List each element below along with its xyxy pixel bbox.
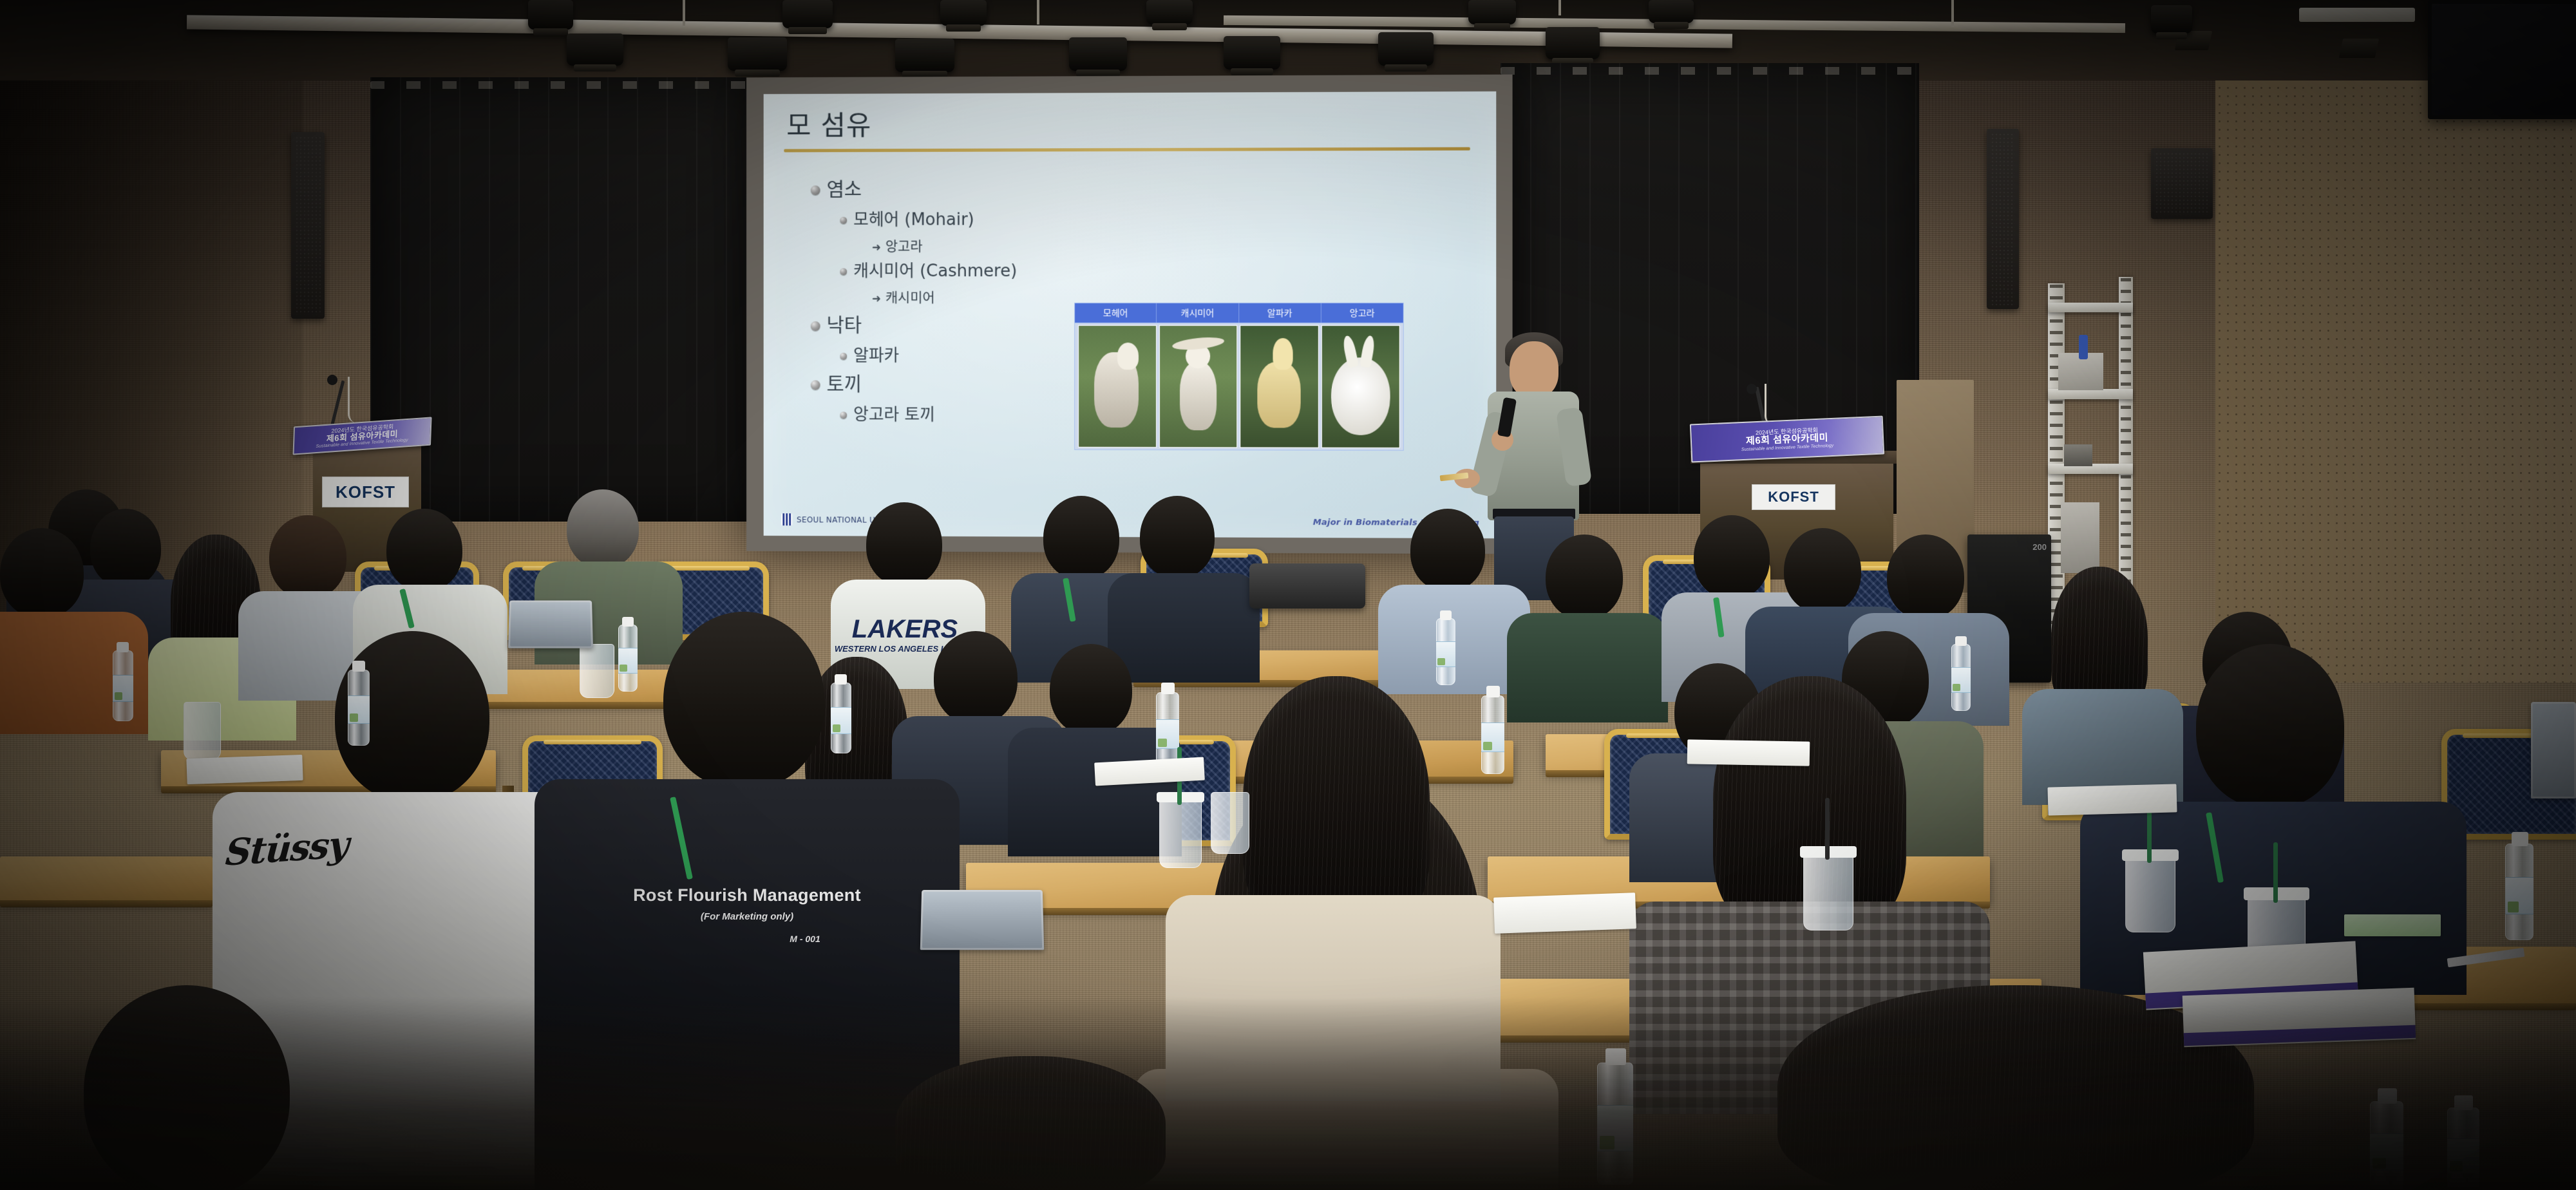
slide-bullet-level1: 낙타 <box>811 309 862 337</box>
animal-comparison-table: 모헤어 캐시미어 알파카 앙고라 <box>1074 303 1404 451</box>
water-bottle[interactable] <box>348 670 370 746</box>
slide-title: 모 섬유 <box>786 104 871 143</box>
bottle-label <box>1951 667 1971 693</box>
iced-coffee-cup[interactable] <box>2125 856 2175 932</box>
stage-light <box>1649 0 1694 23</box>
cup-body <box>2125 856 2175 932</box>
blackout-curtain-left <box>370 77 763 522</box>
truss-hanger <box>1037 0 1039 24</box>
angora-goat-photo <box>1078 325 1156 448</box>
water-bottle[interactable] <box>2505 844 2533 940</box>
bottle-cap <box>1486 686 1500 697</box>
person-head <box>1050 644 1132 735</box>
bullet-dot-icon <box>840 411 847 419</box>
kofst-sign: KOFST <box>322 477 409 507</box>
projection-screen: 모 섬유 염소 모헤어 (Mohair) ➜앙고라 캐시미어 (Cashmere… <box>746 75 1513 554</box>
bottle-cap <box>352 661 365 672</box>
bottle-cap <box>622 617 634 627</box>
person-head <box>269 515 346 599</box>
bullet-dot-icon <box>811 185 820 195</box>
slide-bullet-level1: 토끼 <box>811 368 862 397</box>
person-shoulders <box>1108 573 1260 683</box>
laptop[interactable] <box>508 600 593 648</box>
handout-paper[interactable] <box>1687 739 1810 766</box>
bottle-cap <box>2512 832 2528 846</box>
bottle-label <box>113 675 133 702</box>
angora-rabbit-photo <box>1321 325 1399 448</box>
wall-monitor <box>2428 0 2576 119</box>
storage-rack-item <box>2064 444 2092 466</box>
bottle-label <box>2505 877 2533 914</box>
stage-light <box>1378 32 1434 66</box>
bottle-label <box>348 695 370 724</box>
water-bottle[interactable] <box>1951 644 1971 711</box>
person-head <box>1546 534 1623 619</box>
cup-body <box>184 702 221 760</box>
cashmere-goat-photo <box>1159 325 1238 448</box>
floor-shadow <box>0 997 2576 1190</box>
bottle-label <box>1436 641 1455 667</box>
stage-light <box>1224 36 1280 70</box>
presenter-head <box>1510 341 1558 398</box>
pa-speaker-label: 200 <box>2032 542 2047 552</box>
truss-hanger <box>683 0 685 26</box>
handout-paper[interactable] <box>2047 784 2177 815</box>
water-bottle[interactable] <box>831 683 851 753</box>
animal-silhouette <box>1258 363 1301 428</box>
stage-light <box>940 0 987 26</box>
person-head <box>934 631 1018 724</box>
laptop[interactable] <box>920 890 1044 950</box>
bottle-cap <box>1955 636 1967 646</box>
animal-silhouette <box>1180 362 1217 430</box>
stage-light <box>1468 0 1516 24</box>
audience-table <box>0 856 213 902</box>
cup-body <box>1803 853 1853 930</box>
tshirt-line1: Rost Flourish Management <box>535 885 960 905</box>
stage-light <box>782 0 833 28</box>
bottle-label <box>1156 719 1179 749</box>
laptop-screen <box>922 892 1042 948</box>
person-head <box>1410 509 1485 591</box>
bottle-cap <box>1440 610 1452 620</box>
tshirt-line2: (For Marketing only) <box>535 911 960 922</box>
person-head <box>866 502 942 586</box>
bullet-dot-icon <box>811 380 820 390</box>
slide-bullet-level2: 모헤어 (Mohair) <box>840 206 974 230</box>
person-head <box>1784 528 1861 613</box>
banner-cable <box>1765 384 1784 425</box>
animal-silhouette <box>1331 357 1390 435</box>
stage-light <box>728 37 787 71</box>
table-header-cell: 앙고라 <box>1321 303 1403 323</box>
curtain-folds <box>370 77 763 522</box>
arrow-bullet-icon: ➜ <box>872 241 881 254</box>
straw <box>2273 842 2278 903</box>
bottle-label <box>831 707 851 734</box>
table-header-cell: 알파카 <box>1239 303 1321 323</box>
wall-speaker-left <box>291 132 325 319</box>
bottle-label <box>1481 722 1504 752</box>
slide-accent-rule <box>784 147 1470 153</box>
person-head <box>1140 496 1215 578</box>
storage-rack-shelf <box>2048 303 2133 312</box>
iced-coffee-cup[interactable] <box>1803 853 1853 930</box>
presentation-slide: 모 섬유 염소 모헤어 (Mohair) ➜앙고라 캐시미어 (Cashmere… <box>764 91 1497 538</box>
stage-light <box>1546 27 1600 59</box>
truss-hanger <box>1951 0 1954 27</box>
slide-bullet-level3: ➜캐시미어 <box>872 287 935 307</box>
storage-rack-shelf <box>2048 389 2133 399</box>
laptop[interactable] <box>2531 702 2576 798</box>
person-head <box>0 528 84 618</box>
stage-light-barn-door <box>2339 39 2379 58</box>
wall-speaker-corner <box>2151 148 2213 219</box>
cup-body <box>1159 798 1202 868</box>
person-head <box>90 509 161 587</box>
cup-body <box>1211 792 1249 854</box>
cup-body <box>580 644 614 698</box>
person-head <box>567 489 639 568</box>
straw <box>1825 798 1830 860</box>
storage-rack-bottle <box>2079 335 2088 359</box>
microphone-icon <box>1747 384 1757 394</box>
slide-bullet-level2: 캐시미어 (Cashmere) <box>840 258 1017 281</box>
storage-rack-item <box>2061 502 2099 573</box>
table-image-row <box>1074 323 1404 451</box>
person-head <box>2196 644 2344 808</box>
handout-paper[interactable] <box>1493 892 1636 934</box>
arrow-bullet-icon: ➜ <box>872 292 881 305</box>
slide-bullet-level1: 염소 <box>811 173 862 202</box>
bottle-cap <box>1161 683 1175 694</box>
bullet-dot-icon <box>811 321 820 331</box>
stage-light <box>1069 37 1127 71</box>
stussy-logo: Stüssy <box>224 823 350 874</box>
person-shoulders <box>1507 613 1668 722</box>
laptop-screen <box>510 602 591 646</box>
truss-hanger <box>1558 0 1561 15</box>
water-bottle[interactable] <box>1436 618 1455 685</box>
animal-head <box>1117 343 1139 369</box>
paper-cup[interactable] <box>580 644 614 698</box>
paper-cup[interactable] <box>184 702 221 760</box>
laptop-screen <box>2533 704 2574 797</box>
slide-bullet-level3: ➜앙고라 <box>872 236 923 255</box>
person-head <box>1694 515 1770 599</box>
table-edge <box>0 900 213 907</box>
person-head <box>1043 496 1119 580</box>
water-bottle[interactable] <box>1481 695 1504 774</box>
table-header-cell: 모헤어 <box>1075 303 1157 323</box>
alpaca-photo <box>1240 325 1318 448</box>
paper-cup[interactable] <box>1211 792 1249 854</box>
backpack <box>1249 563 1365 609</box>
lecture-hall-scene: 모 섬유 염소 모헤어 (Mohair) ➜앙고라 캐시미어 (Cashmere… <box>0 0 2576 1190</box>
university-crest-icon <box>781 513 792 525</box>
bottle-label <box>618 648 638 674</box>
stage-light <box>2151 5 2192 33</box>
bullet-dot-icon <box>840 217 847 224</box>
water-bottle[interactable] <box>113 650 133 721</box>
water-bottle[interactable] <box>618 625 638 692</box>
stage-light <box>1146 0 1193 24</box>
banner-cable <box>348 377 365 423</box>
name-card[interactable] <box>2344 914 2441 936</box>
table-header-row: 모헤어 캐시미어 알파카 앙고라 <box>1074 303 1404 323</box>
slide-bullet-level2: 앙고라 토끼 <box>840 401 935 425</box>
iced-coffee-cup[interactable] <box>1159 798 1202 868</box>
person-head <box>663 612 824 789</box>
person-head <box>386 509 462 591</box>
microphone-icon <box>327 375 337 385</box>
animal-head <box>1273 338 1293 370</box>
wall-speaker-right <box>1987 129 2019 309</box>
stage-light <box>895 39 954 72</box>
person-head <box>1887 534 1964 619</box>
bullet-dot-icon <box>840 268 847 275</box>
handout-paper[interactable] <box>186 755 303 784</box>
ceiling-track-rail <box>2299 8 2415 22</box>
bullet-dot-icon <box>840 353 847 360</box>
bottle-cap <box>835 674 847 685</box>
slide-bullet-level2: 알파카 <box>840 343 899 366</box>
kofst-sign-right: KOFST <box>1752 484 1835 510</box>
table-header-cell: 캐시미어 <box>1157 303 1239 323</box>
stage-light <box>528 0 573 30</box>
bottle-cap <box>117 642 129 652</box>
stage-light <box>567 33 623 66</box>
